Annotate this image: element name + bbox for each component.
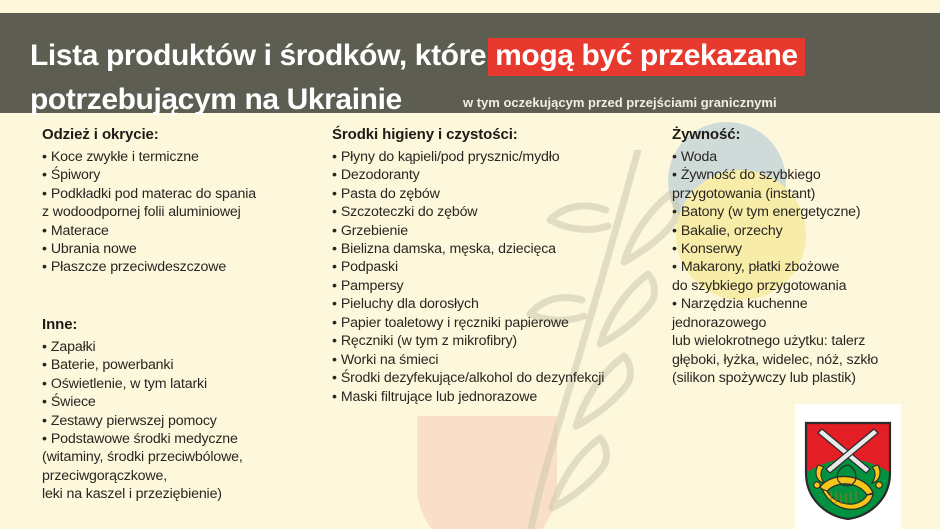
coat-of-arms-icon [804,421,892,521]
peach-semicircle-decoration [417,416,557,529]
bullet-icon: • [332,204,337,220]
bullet-icon: • [332,186,337,202]
list-item: •Baterie, powerbanki [42,356,317,374]
bullet-icon: • [672,241,677,257]
bullet-icon: • [332,149,337,165]
list-item: •Płyny do kąpieli/pod prysznic/mydło [332,148,662,166]
list-item: •Konserwy [672,240,922,258]
list-item: do szybkiego przygotowania [672,277,922,295]
bullet-icon: • [672,167,677,183]
list-item: •Podkładki pod materac do spania [42,185,317,203]
bullet-icon: • [672,259,677,275]
list-item-label: Bakalie, orzechy [681,223,783,239]
list-item: przygotowania (instant) [672,185,922,203]
section-food-title: Żywność: [672,126,922,145]
bullet-icon: • [42,223,47,239]
list-item-label: Zapałki [51,339,96,355]
title-text-leading: Lista produktów i środków, które [30,39,486,72]
bullet-icon: • [42,394,47,410]
list-item-label: Bielizna damska, męska, dziecięca [341,241,556,257]
bullet-icon: • [42,241,47,257]
top-margin-strip [0,0,940,13]
list-item-label: Zestawy pierwszej pomocy [51,413,217,429]
list-item: •Świece [42,393,317,411]
list-item: przeciwgorączkowe, [42,467,317,485]
list-item: •Materace [42,222,317,240]
list-item-label: Dezodoranty [341,167,420,183]
bullet-icon: • [672,204,677,220]
list-item: •Bakalie, orzechy [672,222,922,240]
list-item-label: Makarony, płatki zbożowe [681,259,840,275]
bullet-icon: • [42,357,47,373]
list-item-label: Papier toaletowy i ręczniki papierowe [341,315,569,331]
list-item: •Żywność do szybkiego [672,166,922,184]
list-item-label: Żywność do szybkiego [681,167,821,183]
list-item-label: przeciwgorączkowe, [42,468,167,484]
list-item-label: głęboki, łyżka, widelec, nóż, szkło [672,352,878,368]
list-item-label: przygotowania (instant) [672,186,815,202]
list-item: •Ręczniki (w tym z mikrofibry) [332,332,662,350]
bullet-icon: • [42,413,47,429]
bullet-icon: • [672,223,677,239]
list-item-label: z wodoodpornej folii aluminiowej [42,204,241,220]
bullet-icon: • [42,376,47,392]
list-item-label: Maski filtrujące lub jednorazowe [341,389,537,405]
list-item: •Grzebienie [332,222,662,240]
section-hygiene-title: Środki higieny i czystości: [332,126,662,145]
list-item-label: Szczoteczki do zębów [341,204,478,220]
list-item: •Maski filtrujące lub jednorazowe [332,388,662,406]
list-item-label: Pasta do zębów [341,186,440,202]
list-item: •Podstawowe środki medyczne [42,430,317,448]
list-item-label: Podpaski [341,259,398,275]
list-item: •Pampersy [332,277,662,295]
list-item-label: Ręczniki (w tym z mikrofibry) [341,333,517,349]
list-item: •Pasta do zębów [332,185,662,203]
section-hygiene-list: •Płyny do kąpieli/pod prysznic/mydło•Dez… [332,148,662,406]
list-item-label: do szybkiego przygotowania [672,278,846,294]
list-item: •Zestawy pierwszej pomocy [42,412,317,430]
list-item-label: Worki na śmieci [341,352,439,368]
list-item: •Szczoteczki do zębów [332,203,662,221]
list-item-label: Pampersy [341,278,404,294]
list-item: •Pieluchy dla dorosłych [332,295,662,313]
section-food-list: •Woda•Żywność do szybkiegoprzygotowania … [672,148,922,388]
bullet-icon: • [332,315,337,331]
list-item: •Środki dezyfekujące/alkohol do dezynfek… [332,369,662,387]
bullet-icon: • [332,370,337,386]
page-title-line-1: Lista produktów i środków, któremogą być… [30,38,805,76]
section-other: Inne: •Zapałki•Baterie, powerbanki•Oświe… [42,316,317,504]
list-item: •Zapałki [42,338,317,356]
list-item-label: Narzędzia kuchenne [681,296,808,312]
bullet-icon: • [42,149,47,165]
list-item: (witaminy, środki przeciwbólowe, [42,448,317,466]
bullet-icon: • [332,259,337,275]
list-item-label: Woda [681,149,717,165]
bullet-icon: • [332,167,337,183]
list-item-label: Ubrania nowe [51,241,137,257]
list-item: •Ubrania nowe [42,240,317,258]
section-clothing: Odzież i okrycie: •Koce zwykłe i termicz… [42,126,317,277]
list-item-label: Pieluchy dla dorosłych [341,296,479,312]
list-item: •Koce zwykłe i termiczne [42,148,317,166]
header-band: Lista produktów i środków, któremogą być… [0,13,940,113]
poster-canvas: Lista produktów i środków, któremogą być… [0,0,940,529]
bullet-icon: • [332,241,337,257]
section-other-title: Inne: [42,316,317,335]
bullet-icon: • [332,296,337,312]
section-clothing-list: •Koce zwykłe i termiczne•Śpiwory•Podkład… [42,148,317,277]
list-item: leki na kaszel i przeziębienie) [42,485,317,503]
list-item: z wodoodpornej folii aluminiowej [42,203,317,221]
list-item-label: Środki dezyfekujące/alkohol do dezynfekc… [341,370,604,386]
list-item-label: Płaszcze przeciwdeszczowe [51,259,226,275]
list-item: •Batony (w tym energetyczne) [672,203,922,221]
bullet-icon: • [42,186,47,202]
list-item-label: Podkładki pod materac do spania [51,186,256,202]
list-item: •Dezodoranty [332,166,662,184]
list-item: •Bielizna damska, męska, dziecięca [332,240,662,258]
list-item: •Oświetlenie, w tym latarki [42,375,317,393]
bullet-icon: • [332,389,337,405]
list-item-label: (silikon spożywczy lub plastik) [672,370,856,386]
section-hygiene: Środki higieny i czystości: •Płyny do ką… [332,126,662,406]
bullet-icon: • [672,296,677,312]
list-item: •Makarony, płatki zbożowe [672,258,922,276]
bullet-icon: • [672,149,677,165]
list-item-label: Świece [51,394,96,410]
list-item: •Narzędzia kuchenne [672,295,922,313]
page-title-line-2: potrzebującym na Ukrainie [30,83,402,117]
list-item: lub wielokrotnego użytku: talerz [672,332,922,350]
bullet-icon: • [332,223,337,239]
section-food: Żywność: •Woda•Żywność do szybkiegoprzyg… [672,126,922,388]
page-subtitle: w tym oczekującym przed przejściami gran… [463,95,777,110]
list-item-label: Oświetlenie, w tym latarki [51,376,207,392]
list-item: głęboki, łyżka, widelec, nóż, szkło [672,351,922,369]
list-item: •Worki na śmieci [332,351,662,369]
list-item-label: (witaminy, środki przeciwbólowe, [42,449,243,465]
bullet-icon: • [42,431,47,447]
bullet-icon: • [42,259,47,275]
section-other-list: •Zapałki•Baterie, powerbanki•Oświetlenie… [42,338,317,504]
list-item-label: Śpiwory [51,167,100,183]
list-item: •Śpiwory [42,166,317,184]
list-item-label: Konserwy [681,241,742,257]
list-item: •Płaszcze przeciwdeszczowe [42,258,317,276]
list-item: jednorazowego [672,314,922,332]
bullet-icon: • [332,352,337,368]
list-item-label: jednorazowego [672,315,766,331]
bullet-icon: • [332,278,337,294]
section-clothing-title: Odzież i okrycie: [42,126,317,145]
list-item-label: Materace [51,223,109,239]
list-item: •Podpaski [332,258,662,276]
list-item: •Woda [672,148,922,166]
list-item-label: leki na kaszel i przeziębienie) [42,486,222,502]
list-item: •Papier toaletowy i ręczniki papierowe [332,314,662,332]
list-item-label: Grzebienie [341,223,408,239]
list-item-label: Płyny do kąpieli/pod prysznic/mydło [341,149,560,165]
list-item-label: Baterie, powerbanki [51,357,174,373]
list-item-label: Koce zwykłe i termiczne [51,149,199,165]
bullet-icon: • [42,339,47,355]
title-highlight: mogą być przekazane [488,38,805,76]
list-item-label: Podstawowe środki medyczne [51,431,238,447]
coat-of-arms-panel [795,404,901,529]
list-item: (silikon spożywczy lub plastik) [672,369,922,387]
list-item-label: Batony (w tym energetyczne) [681,204,861,220]
bullet-icon: • [42,167,47,183]
list-item-label: lub wielokrotnego użytku: talerz [672,333,865,349]
bullet-icon: • [332,333,337,349]
